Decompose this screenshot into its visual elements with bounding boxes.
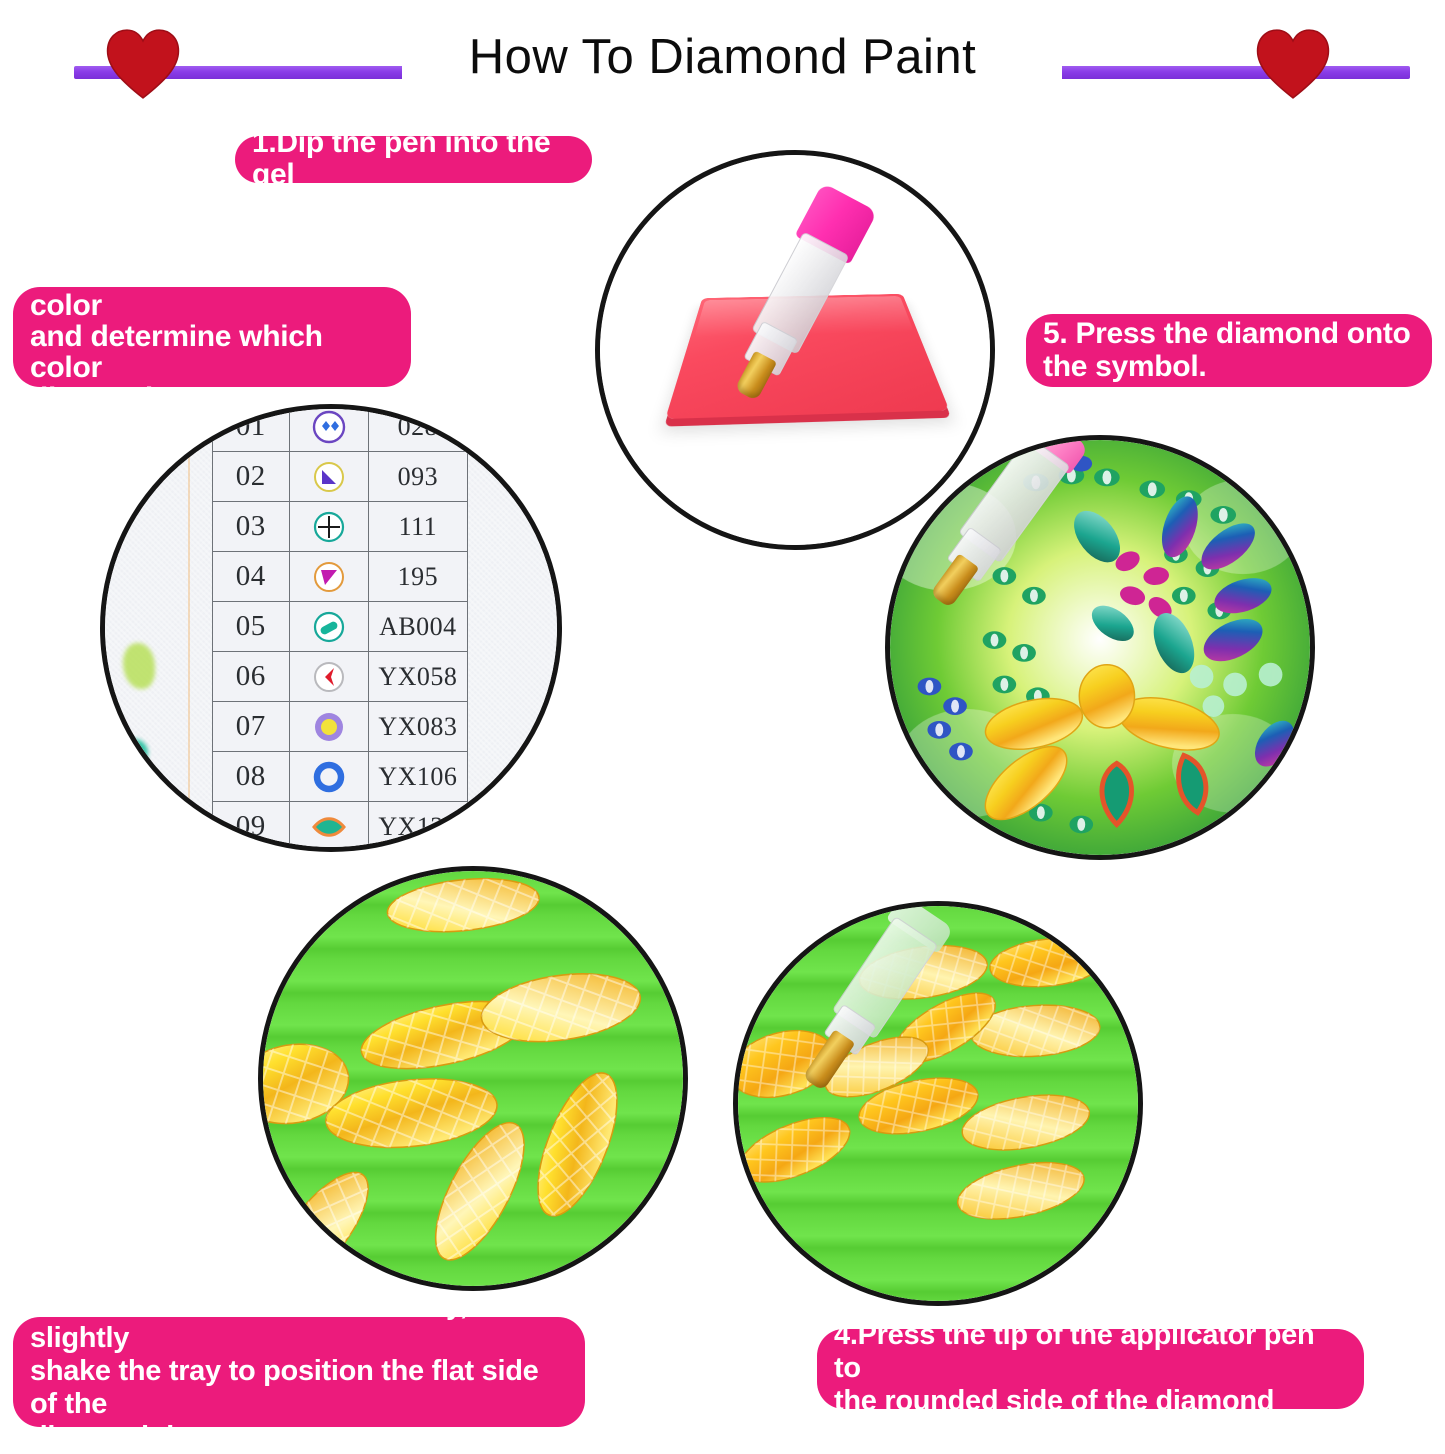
row-code: 111 — [368, 502, 467, 552]
table-row: 07 YX083 — [213, 702, 468, 752]
row-symbol — [289, 752, 368, 802]
row-number: 09 — [213, 802, 290, 848]
table-row: 09 YX125 — [213, 802, 468, 848]
step-1-caption-text: 1.Dip the pen into the gel — [252, 127, 575, 191]
table-row: 08 YX106 — [213, 752, 468, 802]
infographic-root: How To Diamond Paint 1.Dip the pen into … — [0, 0, 1445, 1445]
step-4-caption-text: 4.Press the tip of the applicator pen to… — [834, 1319, 1347, 1418]
row-code: YX083 — [368, 702, 467, 752]
row-symbol — [289, 652, 368, 702]
row-number: 04 — [213, 552, 290, 602]
row-number: 07 — [213, 702, 290, 752]
header: How To Diamond Paint — [0, 0, 1445, 135]
step-5-caption-text: 5. Press the diamond onto the symbol. — [1043, 317, 1415, 383]
step-5-photo-circle — [885, 435, 1315, 860]
row-code: 195 — [368, 552, 467, 602]
row-symbol — [289, 502, 368, 552]
blue-ring-icon — [309, 757, 349, 797]
row-number: 06 — [213, 652, 290, 702]
table-row: 04 195 — [213, 552, 468, 602]
step-3-caption-text: 3.Put the diamonds into the tray, slight… — [30, 1289, 568, 1454]
step-2-caption-text: 2.Match the diamond color and determine … — [30, 259, 394, 414]
row-code: YX106 — [368, 752, 467, 802]
row-number: 05 — [213, 602, 290, 652]
row-symbol — [289, 409, 368, 452]
row-code: YX125 — [368, 802, 467, 848]
pen-tip-gold — [802, 1029, 855, 1091]
yellow-dot-purple-ring-icon — [309, 707, 349, 747]
row-code: 028 — [368, 409, 467, 452]
step-3-photo-circle — [258, 866, 688, 1291]
mandala-canvas — [890, 440, 1310, 855]
row-symbol — [289, 802, 368, 848]
step-3-caption: 3.Put the diamonds into the tray, slight… — [14, 1318, 584, 1426]
step-4-photo-circle — [733, 901, 1143, 1306]
step-2-caption: 2.Match the diamond color and determine … — [14, 288, 410, 386]
paper-edge-line — [188, 409, 190, 847]
table-row: 06 YX058 — [213, 652, 468, 702]
row-number: 02 — [213, 452, 290, 502]
row-code: AB004 — [368, 602, 467, 652]
table-row: 03 111 — [213, 502, 468, 552]
row-symbol — [289, 452, 368, 502]
teal-leaf-orange-outline-icon — [309, 807, 349, 847]
teal-symbol-highlight — [127, 744, 139, 756]
black-plus-teal-circle-icon — [309, 507, 349, 547]
table-row: 05 AB004 — [213, 602, 468, 652]
step-2-photo-circle: 01 028 02 — [100, 404, 562, 852]
table-row: 02 093 — [213, 452, 468, 502]
row-symbol — [289, 552, 368, 602]
row-symbol — [289, 702, 368, 752]
double-diamond-purple-circle-icon — [309, 409, 349, 447]
table-row: 01 028 — [213, 409, 468, 452]
row-number: 03 — [213, 502, 290, 552]
step-4-caption: 4.Press the tip of the applicator pen to… — [818, 1330, 1363, 1408]
magenta-triangle-orange-circle-icon — [309, 557, 349, 597]
tray-diamonds — [263, 871, 683, 1286]
row-code: 093 — [368, 452, 467, 502]
row-number: 01 — [213, 409, 290, 452]
teal-capsule-circle-icon — [309, 607, 349, 647]
color-legend-table: 01 028 02 — [212, 409, 468, 847]
purple-triangle-yellow-circle-icon — [309, 457, 349, 497]
step-5-caption: 5. Press the diamond onto the symbol. — [1027, 315, 1431, 386]
red-chevron-grey-circle-icon — [309, 657, 349, 697]
tray-diamonds — [738, 906, 1138, 1301]
page-title: How To Diamond Paint — [0, 28, 1445, 86]
step-1-caption: 1.Dip the pen into the gel — [236, 137, 591, 182]
row-symbol — [289, 602, 368, 652]
row-code: YX058 — [368, 652, 467, 702]
row-number: 08 — [213, 752, 290, 802]
